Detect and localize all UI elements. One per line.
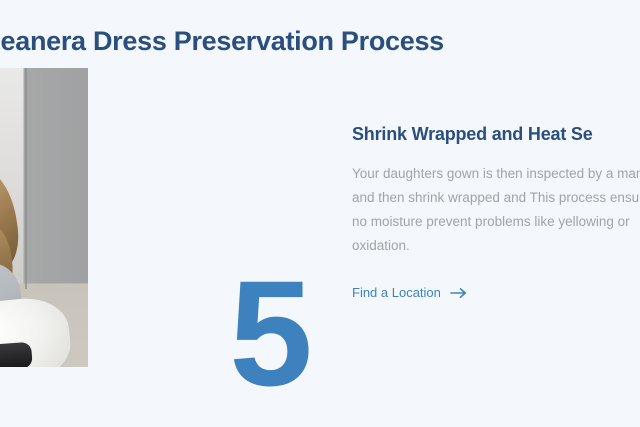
- step-description: Your daughters gown is then inspected by…: [352, 162, 640, 258]
- step-photo: [0, 68, 88, 367]
- process-step-section: 5 Shrink Wrapped and Heat Se Your daught…: [0, 60, 640, 427]
- photo-wall-corner: [25, 68, 27, 289]
- find-a-location-link[interactable]: Find a Location: [352, 284, 468, 302]
- arrow-right-icon: [450, 287, 468, 299]
- find-a-location-label: Find a Location: [352, 284, 441, 302]
- step-text-column: Shrink Wrapped and Heat Se Your daughter…: [352, 122, 640, 302]
- step-number: 5: [210, 258, 330, 408]
- page-title: ...nceanera Dress Preservation Process: [0, 24, 640, 58]
- preservation-process-page: ...nceanera Dress Preservation Process 5…: [0, 0, 640, 427]
- step-heading: Shrink Wrapped and Heat Se: [352, 122, 640, 146]
- photo-chair-seat: [0, 342, 33, 367]
